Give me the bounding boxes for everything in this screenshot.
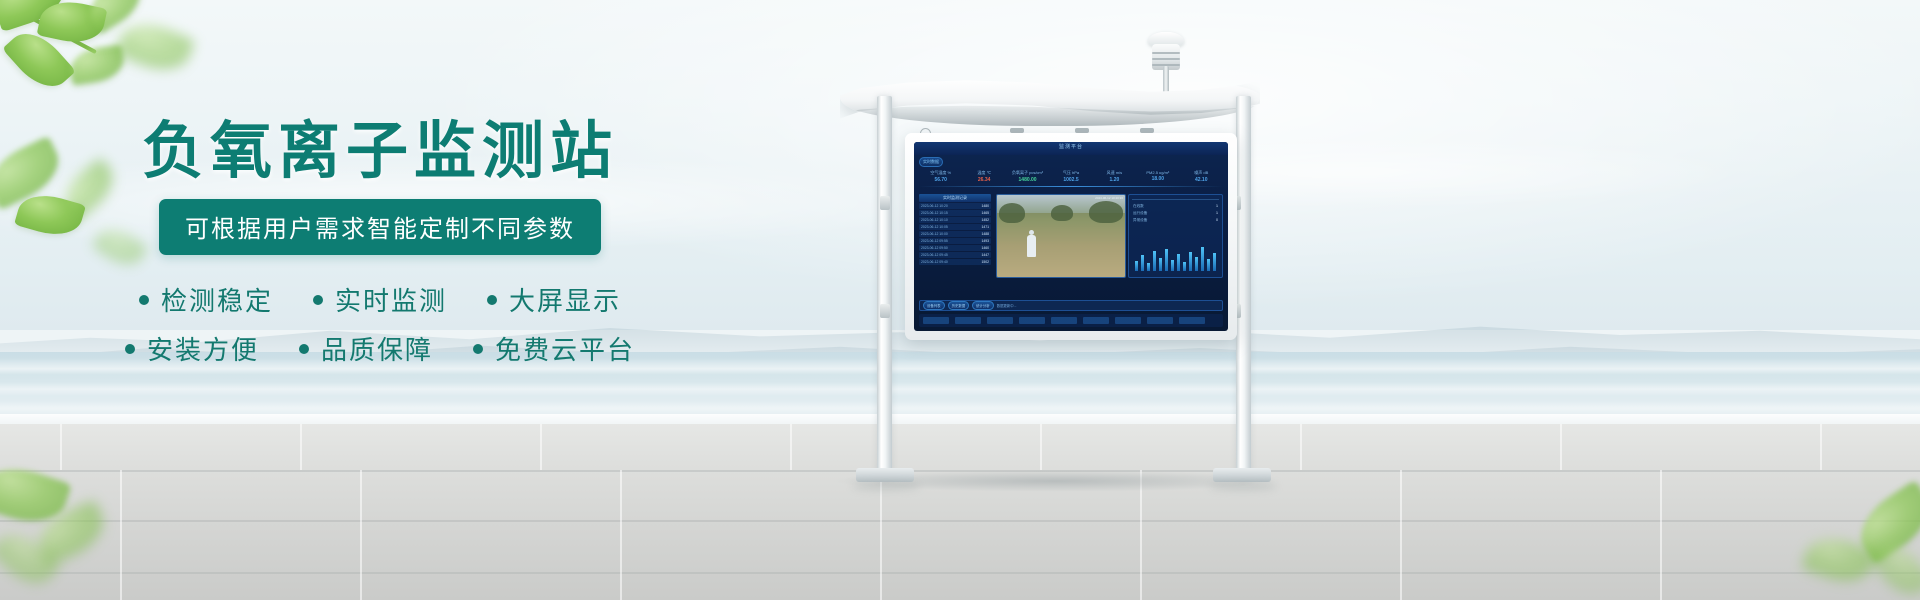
foot-shadow (1209, 482, 1277, 490)
kpi-card: 温度 ℃ 26.34 (962, 170, 1005, 183)
kpi-card: 负氧离子 pcs/cm³ 1480.00 (1006, 170, 1049, 183)
feature-item: 免费云平台 (473, 330, 635, 367)
video-tree (999, 203, 1025, 223)
feature-list: 检测稳定 实时监测 大屏显示 安装方便 品质保障 (0, 281, 760, 367)
kiosk-display-cabinet: 监测平台 实时数据 空气湿度 % 56.70 温度 ℃ 26.34 负氧离子 p… (905, 133, 1237, 340)
pavement-line (1300, 424, 1302, 470)
row-time: 2023-06-12 10:15 (921, 211, 948, 215)
video-tree (1089, 201, 1123, 223)
row-time: 2023-06-12 10:10 (921, 218, 948, 222)
pavement-line (1660, 470, 1662, 600)
row-time: 2023-06-12 10:05 (921, 225, 948, 229)
table-row: 2023-06-12 09:40 1502 (919, 259, 991, 265)
kiosk-foot-left (856, 468, 914, 482)
kpi-card: 风速 m/s 1.20 (1093, 170, 1136, 183)
feature-row-2: 安装方便 品质保障 免费云平台 (0, 330, 760, 367)
feature-item: 实时监测 (313, 281, 447, 318)
stat-row: 运行设备 1 (1133, 211, 1218, 216)
row-time: 2023-06-12 09:55 (921, 239, 948, 243)
row-value: 1460 (981, 246, 989, 250)
feature-item: 安装方便 (125, 330, 259, 367)
row-time: 2023-06-12 10:00 (921, 232, 948, 236)
hero-text-block: 负氧离子监测站 可根据用户需求智能定制不同参数 检测稳定 实时监测 大屏显示 (0, 118, 760, 379)
records-table-header: 实时监测记录 (919, 194, 991, 202)
kpi-card: 气压 hPa 1002.5 (1049, 170, 1092, 183)
footer-status-text: 数据更新中... (997, 303, 1017, 308)
row-value: 1447 (981, 253, 989, 257)
table-row: 2023-06-12 09:45 1447 (919, 252, 991, 258)
footer-chip-history[interactable]: 历史数据 (948, 301, 970, 310)
pavement-line (0, 520, 1920, 522)
video-tree (1051, 205, 1073, 221)
dashboard-tab-bar[interactable]: 实时数据 (919, 157, 943, 167)
kpi-card: PM2.5 ug/m³ 18.00 (1136, 170, 1179, 183)
table-row: 2023-06-12 10:05 1471 (919, 224, 991, 230)
row-value: 1488 (981, 232, 989, 236)
post-bracket (880, 304, 890, 318)
tab-realtime-data[interactable]: 实时数据 (919, 157, 943, 167)
feature-label: 品质保障 (321, 330, 433, 367)
subtitle-badge-wrap: 可根据用户需求智能定制不同参数 (0, 199, 760, 255)
row-value: 1465 (981, 211, 989, 215)
feature-label: 安装方便 (147, 330, 259, 367)
panel-line (1132, 199, 1219, 200)
stats-panel: 在线数 1 运行设备 1 异常设备 0 (1128, 194, 1223, 278)
kpi-value: 26.34 (962, 177, 1005, 183)
row-time: 2023-06-12 10:20 (921, 204, 948, 208)
kpi-value: 1.20 (1093, 177, 1136, 183)
stat-label: 在线数 (1133, 204, 1144, 209)
records-table: 实时监测记录 2023-06-12 10:20 1480 2023-06-12 … (919, 194, 991, 265)
kpi-label: 温度 ℃ (962, 170, 1005, 176)
stat-value: 0 (1216, 218, 1218, 223)
hero-banner: 负氧离子监测站 可根据用户需求智能定制不同参数 检测稳定 实时监测 大屏显示 (0, 0, 1920, 600)
dashboard-divider (919, 186, 1223, 187)
feature-row-1: 检测稳定 实时监测 大屏显示 (0, 281, 760, 318)
table-row: 2023-06-12 10:00 1488 (919, 231, 991, 237)
row-value: 1493 (981, 239, 989, 243)
pavement-line (120, 470, 122, 600)
feature-item: 大屏显示 (487, 281, 621, 318)
table-row: 2023-06-12 10:15 1465 (919, 210, 991, 216)
table-row: 2023-06-12 09:55 1493 (919, 238, 991, 244)
row-time: 2023-06-12 09:40 (921, 260, 948, 264)
bullet-dot-icon (313, 295, 323, 305)
dashboard-screen[interactable]: 监测平台 实时数据 空气湿度 % 56.70 温度 ℃ 26.34 负氧离子 p… (914, 142, 1228, 331)
pavement-line (1040, 424, 1042, 470)
table-row: 2023-06-12 10:20 1480 (919, 203, 991, 209)
footer-chip-device-list[interactable]: 设备列表 (923, 301, 945, 310)
pavement-line (620, 470, 622, 600)
pavement-line (360, 470, 362, 600)
dashboard-footer-bar[interactable]: 设备列表 历史数据 统计分析 数据更新中... (919, 300, 1223, 311)
row-time: 2023-06-12 09:45 (921, 253, 948, 257)
bullet-dot-icon (125, 344, 135, 354)
dashboard-title: 监测平台 (914, 143, 1228, 150)
kpi-strip: 空气湿度 % 56.70 温度 ℃ 26.34 负氧离子 pcs/cm³ 148… (919, 170, 1223, 183)
pavement-line (540, 424, 542, 470)
kiosk-foot-right (1213, 468, 1271, 482)
bullet-dot-icon (299, 344, 309, 354)
pavement-line (790, 424, 792, 470)
pavement-line (1400, 470, 1402, 600)
feature-item: 检测稳定 (139, 281, 273, 318)
post-bracket (880, 196, 890, 210)
feature-label: 实时监测 (335, 281, 447, 318)
camera-video-feed[interactable]: 2023-06-12 10:20:36 (996, 194, 1126, 278)
footer-chip-analysis[interactable]: 统计分析 (972, 301, 994, 310)
row-value: 1502 (981, 260, 989, 264)
kpi-value: 1002.5 (1049, 177, 1092, 183)
stat-label: 运行设备 (1133, 211, 1147, 216)
sensor-fin (1152, 52, 1180, 54)
row-value: 1480 (981, 204, 989, 208)
feature-label: 大屏显示 (509, 281, 621, 318)
bullet-dot-icon (487, 295, 497, 305)
kpi-label: 负氧离子 pcs/cm³ (1006, 170, 1049, 176)
feature-label: 检测稳定 (161, 281, 273, 318)
stat-label: 异常设备 (1133, 218, 1147, 223)
sensor-fin (1152, 58, 1180, 60)
feature-label: 免费云平台 (495, 330, 635, 367)
row-value: 1452 (981, 218, 989, 222)
row-time: 2023-06-12 09:50 (921, 246, 948, 250)
kpi-card: 噪声 dB 42.10 (1180, 170, 1223, 183)
stat-row: 在线数 1 (1133, 204, 1218, 209)
video-timestamp: 2023-06-12 10:20:36 (1095, 196, 1123, 200)
stat-value: 1 (1216, 204, 1218, 209)
table-row: 2023-06-12 09:50 1460 (919, 245, 991, 251)
kpi-label: 气压 hPa (1049, 170, 1092, 176)
table-row: 2023-06-12 10:10 1452 (919, 217, 991, 223)
foot-shadow (852, 482, 920, 490)
pavement-line (0, 572, 1920, 574)
pavement-line (300, 424, 302, 470)
kpi-value: 18.00 (1136, 176, 1179, 182)
kpi-value: 42.10 (1180, 177, 1223, 183)
kpi-card: 空气湿度 % 56.70 (919, 170, 962, 183)
stat-row: 异常设备 0 (1133, 218, 1218, 223)
row-value: 1471 (981, 225, 989, 229)
bullet-dot-icon (473, 344, 483, 354)
stat-value: 1 (1216, 211, 1218, 216)
bullet-dot-icon (139, 295, 149, 305)
pavement-line (1820, 424, 1822, 470)
page-title: 负氧离子监测站 (0, 118, 760, 183)
sparkline-chart (1133, 245, 1218, 271)
dashboard-bottom-strip (919, 314, 1223, 327)
kiosk-post-right (1236, 96, 1251, 480)
kpi-label: PM2.5 ug/m³ (1136, 170, 1179, 175)
pavement-line (60, 424, 62, 470)
feature-item: 品质保障 (299, 330, 433, 367)
pavement-line (1560, 424, 1562, 470)
kpi-label: 噪声 dB (1180, 170, 1223, 176)
kiosk-post-left (877, 96, 892, 480)
kpi-value: 1480.00 (1006, 177, 1049, 183)
kpi-label: 空气湿度 % (919, 170, 962, 176)
subtitle-badge: 可根据用户需求智能定制不同参数 (159, 199, 601, 255)
kpi-value: 56.70 (919, 177, 962, 183)
kpi-label: 风速 m/s (1093, 170, 1136, 176)
video-figure-body (1027, 235, 1036, 257)
